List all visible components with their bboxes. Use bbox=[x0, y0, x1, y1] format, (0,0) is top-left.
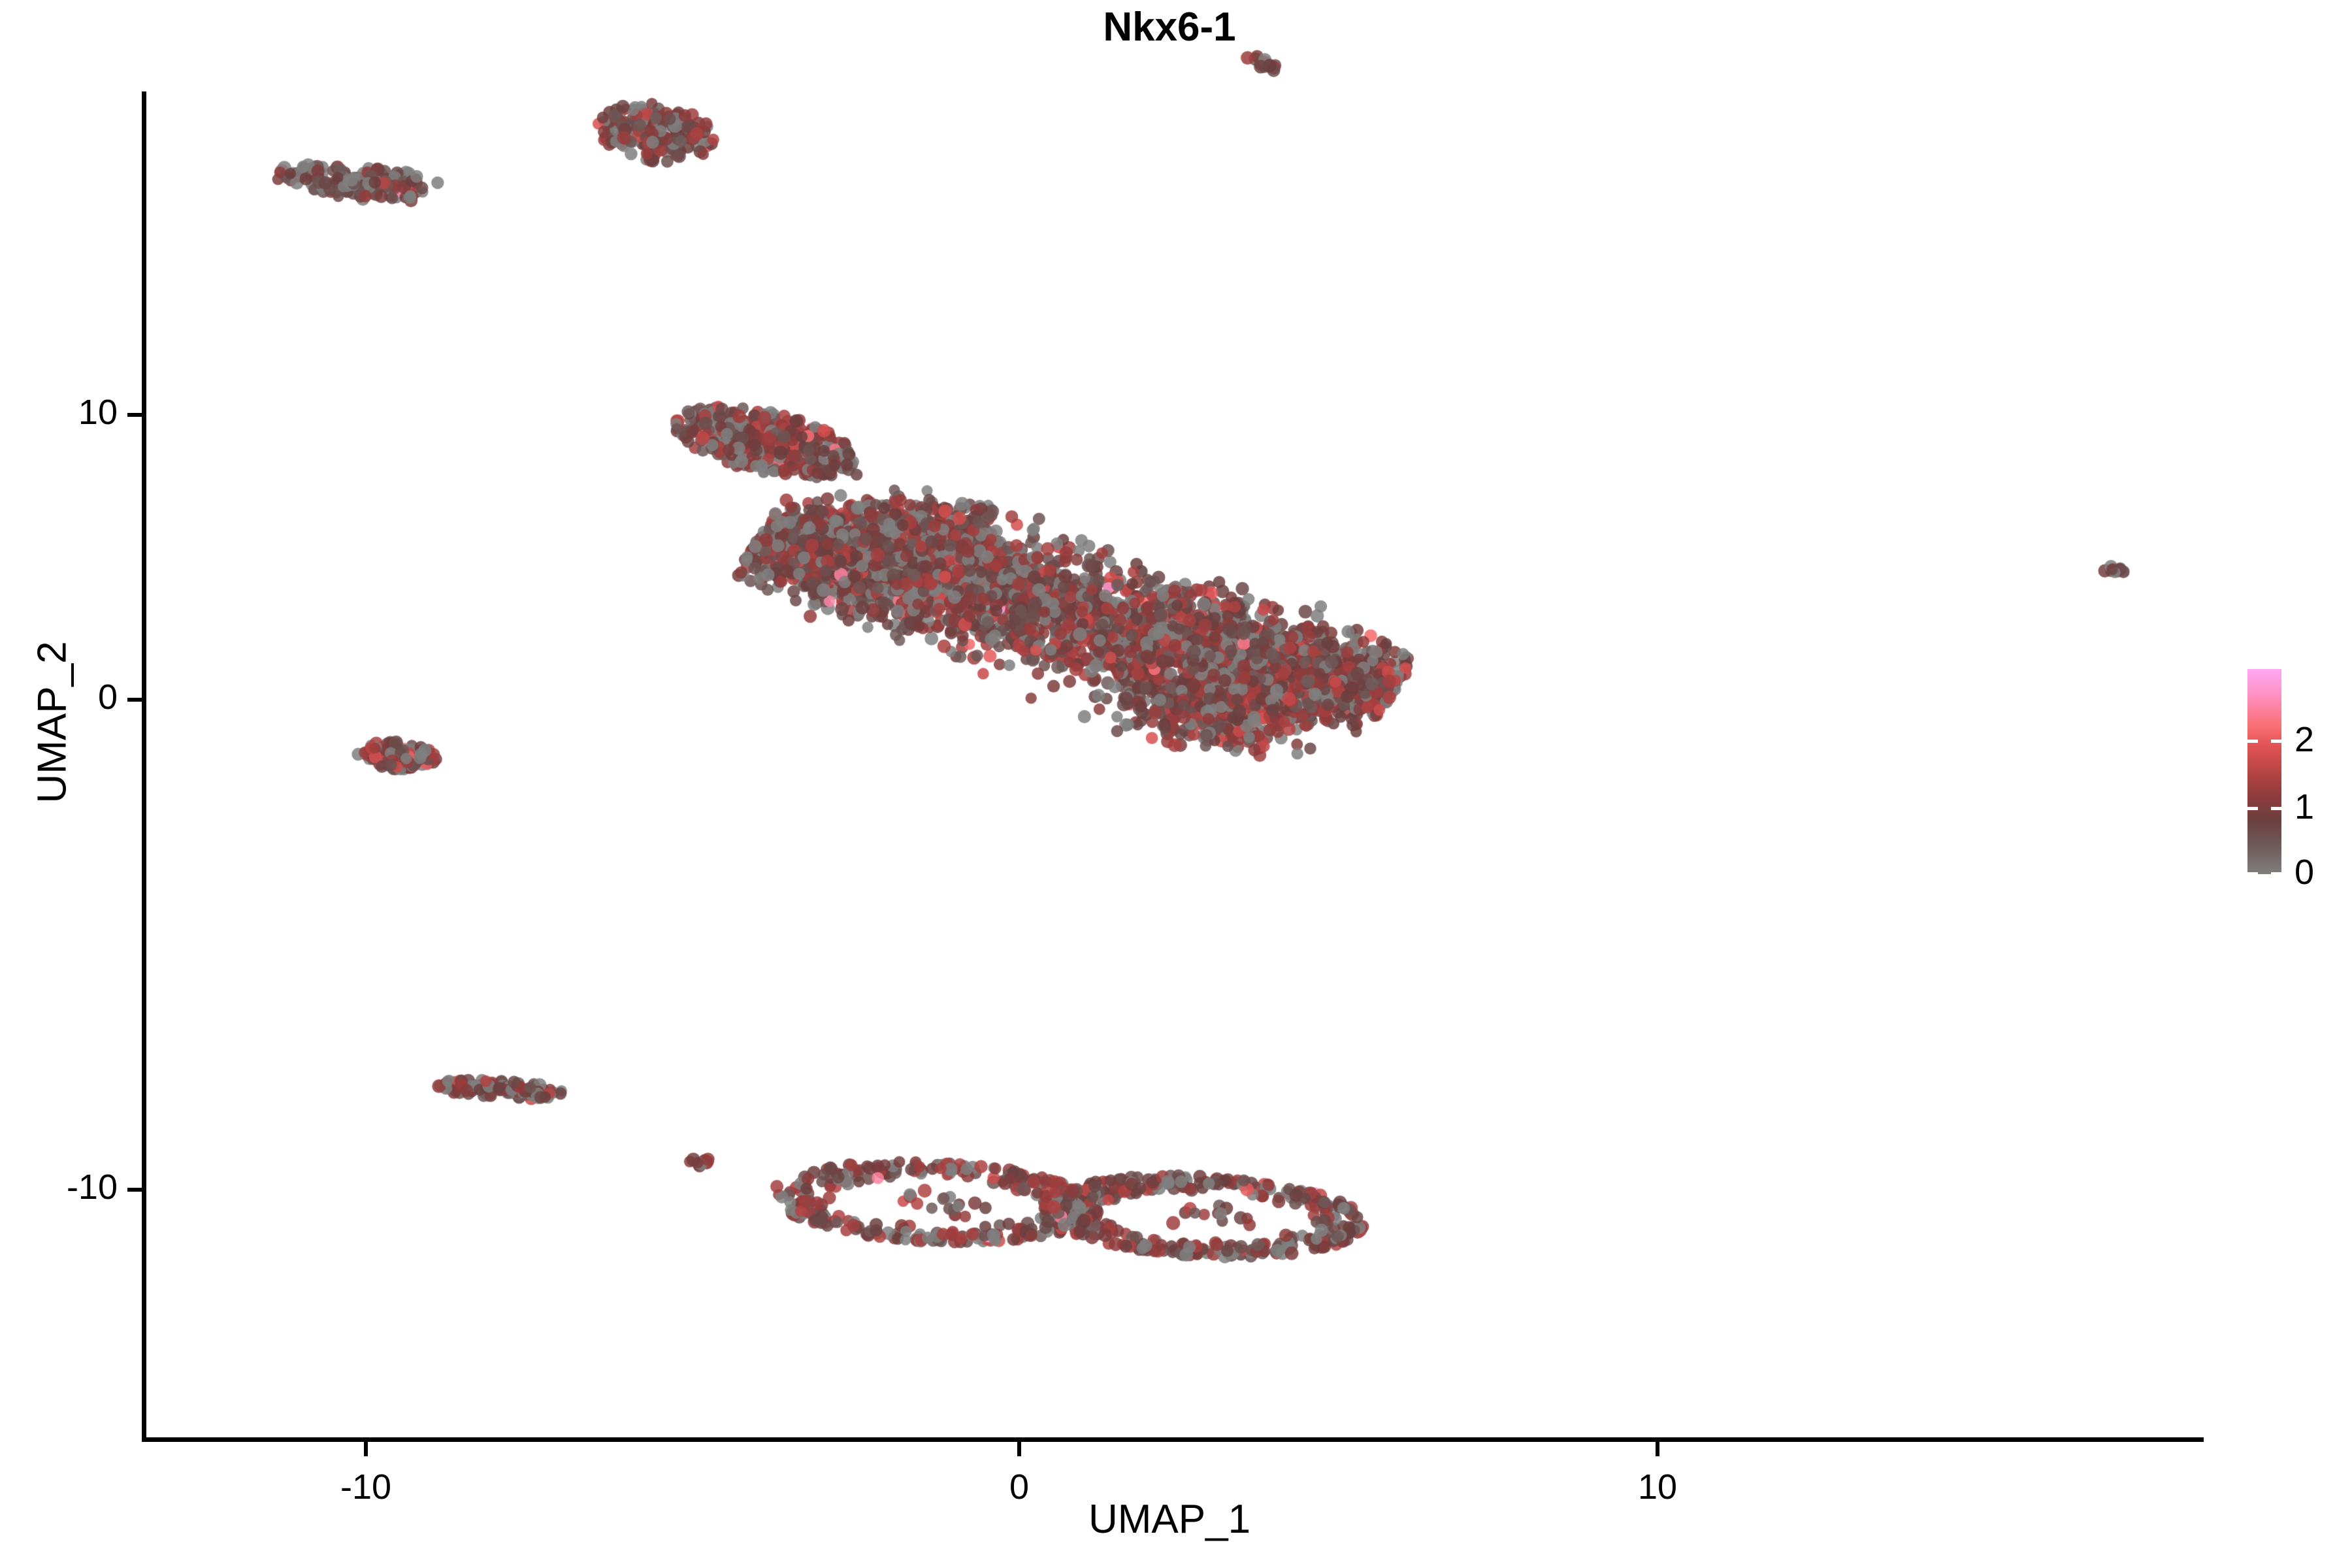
colorbar-tick-1-right bbox=[2271, 807, 2281, 810]
y-tick-10 bbox=[127, 413, 142, 417]
colorbar-tick-0-right bbox=[2271, 872, 2281, 875]
y-tick-label-10: 10 bbox=[0, 392, 118, 433]
colorbar-label-1: 1 bbox=[2295, 787, 2314, 827]
colorbar-label-2: 2 bbox=[2295, 719, 2314, 760]
colorbar-tick-1-left bbox=[2247, 807, 2258, 810]
y-tick-0 bbox=[127, 698, 142, 702]
x-tick-0 bbox=[1017, 1442, 1021, 1456]
x-axis-title: UMAP_1 bbox=[0, 1496, 2339, 1543]
colorbar-label-0: 0 bbox=[2295, 852, 2314, 892]
x-tick-10 bbox=[1656, 1442, 1659, 1456]
colorbar-tick-0-left bbox=[2247, 872, 2258, 875]
y-axis-line bbox=[142, 91, 146, 1441]
y-tick--10 bbox=[127, 1188, 142, 1192]
x-axis-line bbox=[142, 1437, 2204, 1442]
y-tick-label--10: -10 bbox=[0, 1167, 118, 1207]
colorbar-tick-2-left bbox=[2247, 740, 2258, 743]
x-tick--10 bbox=[364, 1442, 368, 1456]
colorbar-tick-2-right bbox=[2271, 740, 2281, 743]
scatter-points-layer bbox=[0, 0, 2352, 1568]
umap-feature-plot: Nkx6-1 10 0 -10 -10 0 10 UMAP_2 UMAP_1 2… bbox=[0, 0, 2352, 1568]
colorbar-gradient bbox=[2247, 669, 2281, 874]
y-axis-title: UMAP_2 bbox=[29, 553, 76, 892]
